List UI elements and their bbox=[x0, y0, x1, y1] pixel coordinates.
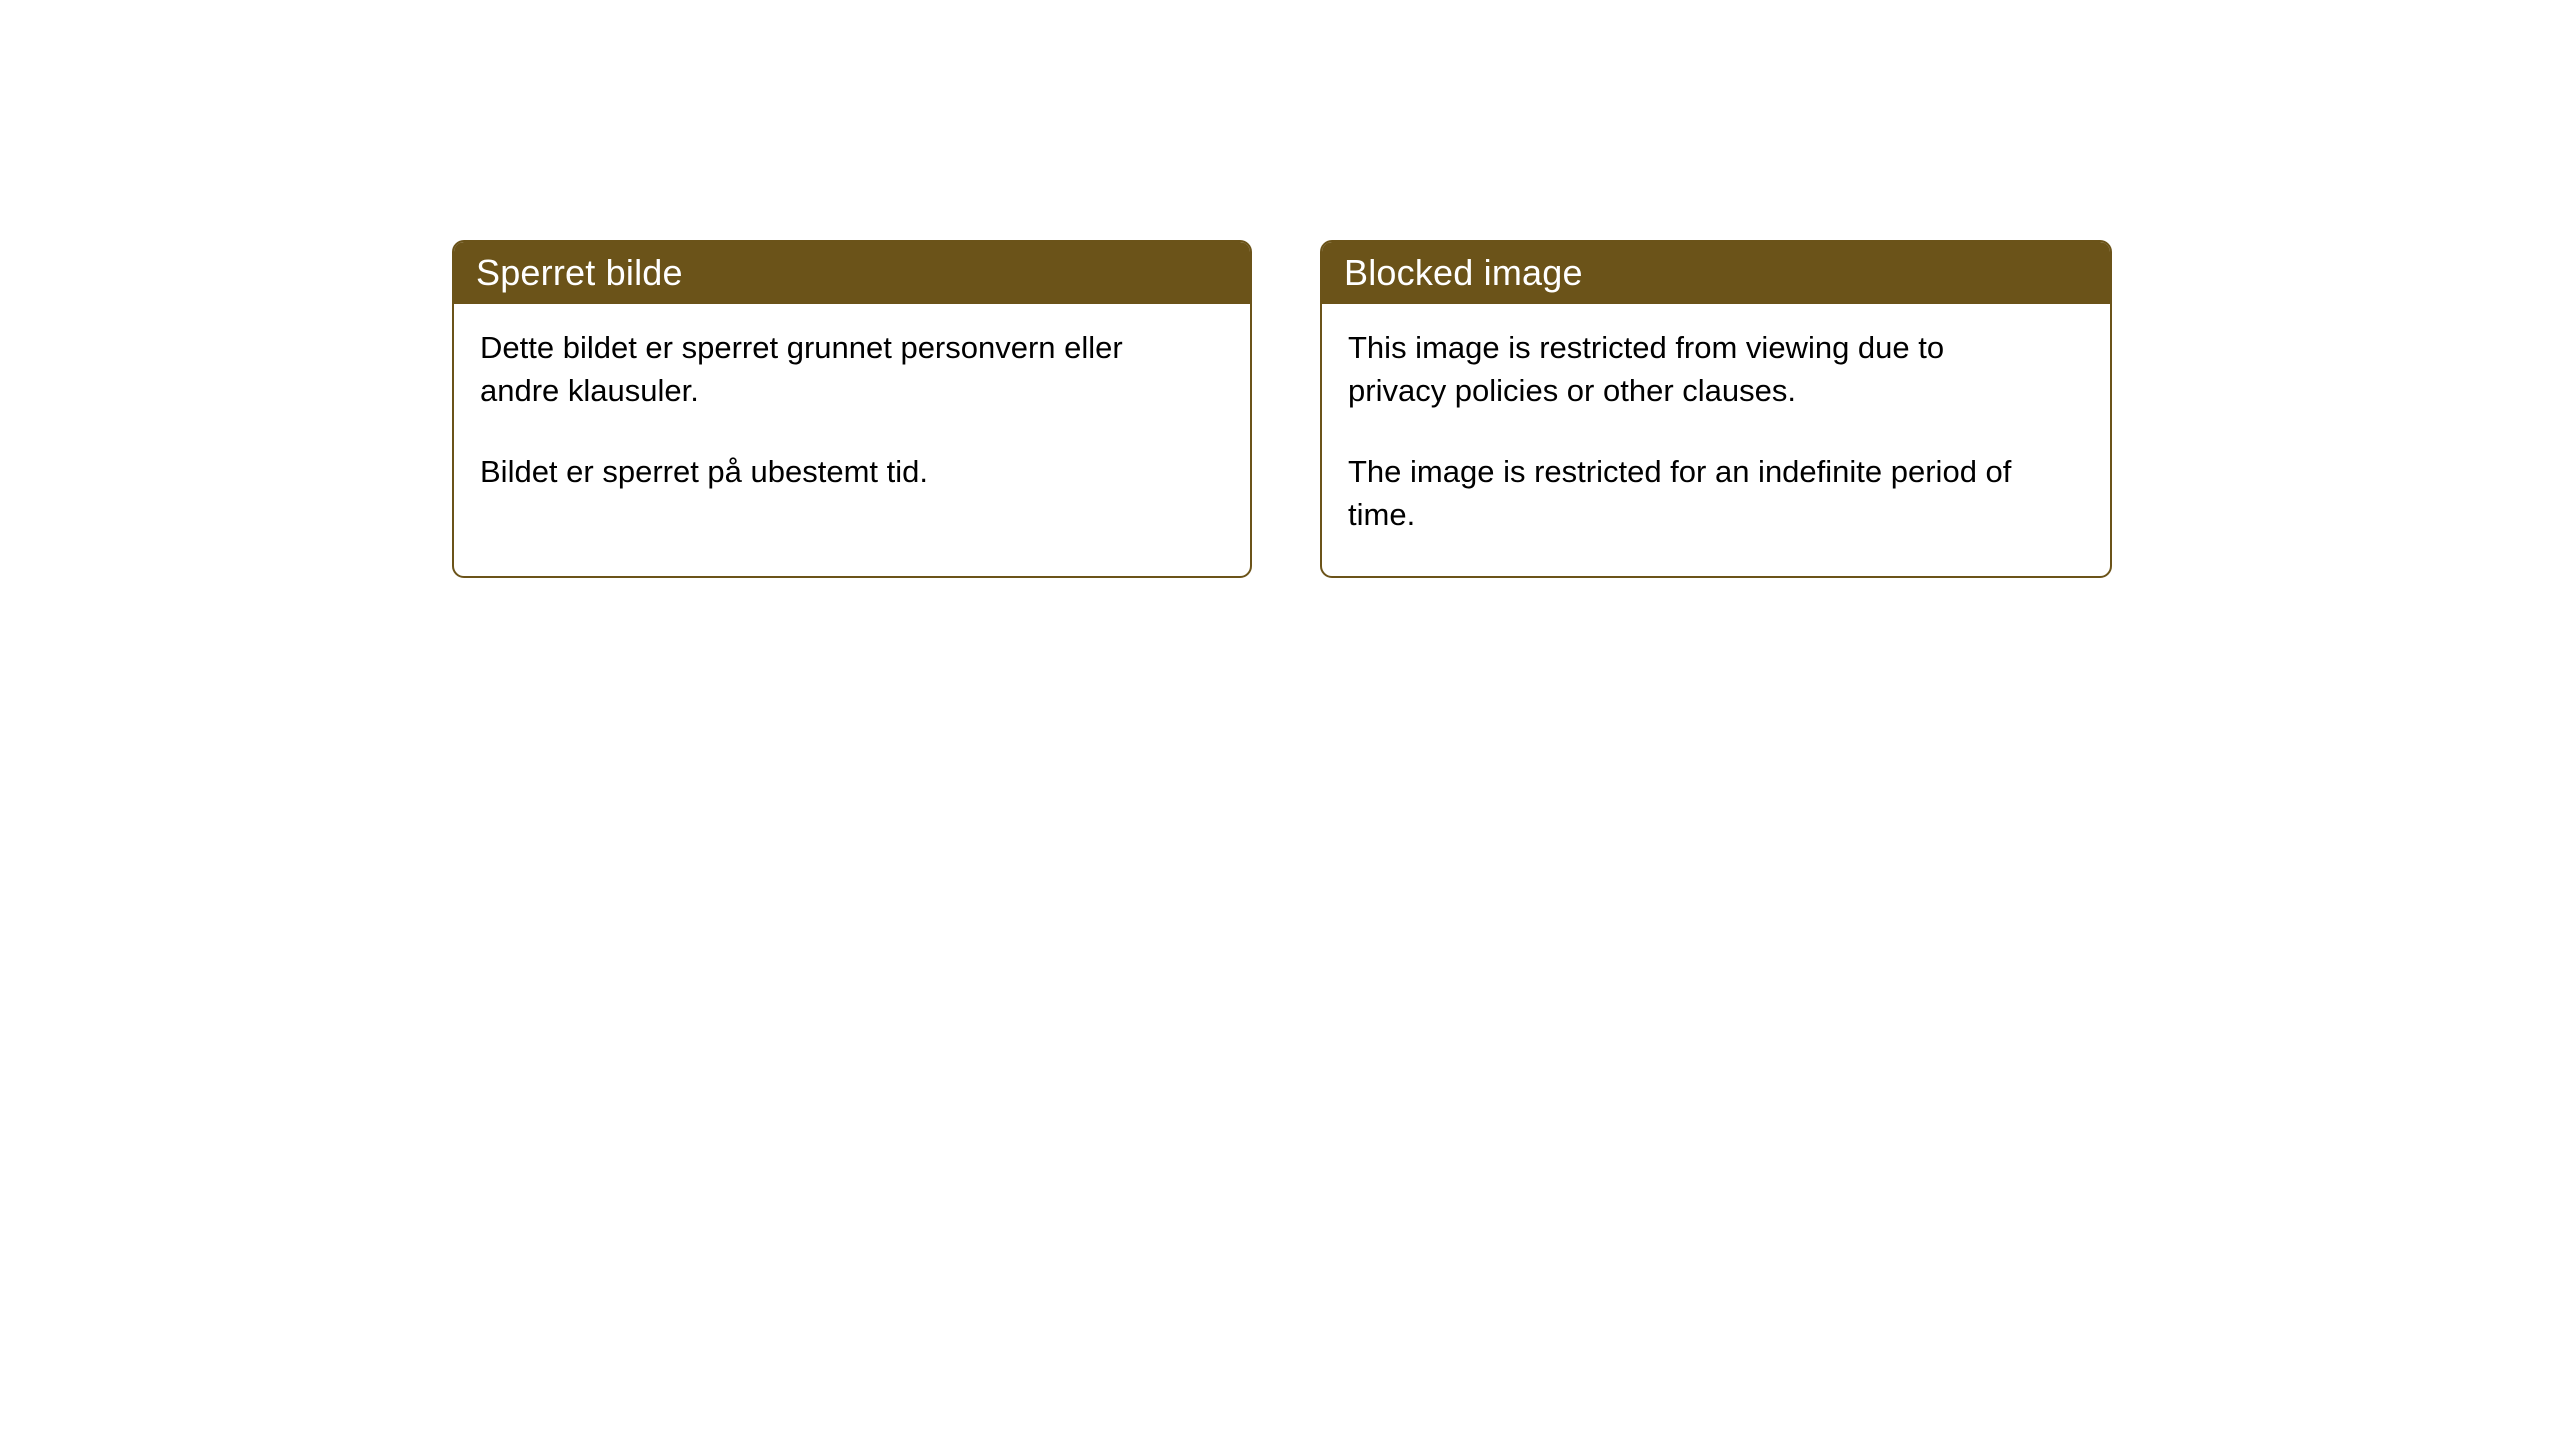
paragraph-spacer-norwegian bbox=[480, 412, 1224, 450]
blocked-image-notice-area: Sperret bilde Dette bildet er sperret gr… bbox=[0, 0, 2560, 1440]
blocked-image-card-norwegian: Sperret bilde Dette bildet er sperret gr… bbox=[452, 240, 1252, 578]
card-header-english: Blocked image bbox=[1322, 242, 2110, 304]
card-body-english: This image is restricted from viewing du… bbox=[1322, 304, 2110, 536]
card-title-english: Blocked image bbox=[1344, 255, 1583, 291]
card-title-norwegian: Sperret bilde bbox=[476, 255, 683, 291]
card-paragraph-norwegian-1: Dette bildet er sperret grunnet personve… bbox=[480, 326, 1180, 412]
card-body-norwegian: Dette bildet er sperret grunnet personve… bbox=[454, 304, 1250, 493]
card-header-norwegian: Sperret bilde bbox=[454, 242, 1250, 304]
card-paragraph-english-1: This image is restricted from viewing du… bbox=[1348, 326, 2048, 412]
card-paragraph-norwegian-2: Bildet er sperret på ubestemt tid. bbox=[480, 450, 1180, 493]
paragraph-spacer-english bbox=[1348, 412, 2084, 450]
card-paragraph-english-2: The image is restricted for an indefinit… bbox=[1348, 450, 2048, 536]
blocked-image-card-english: Blocked image This image is restricted f… bbox=[1320, 240, 2112, 578]
